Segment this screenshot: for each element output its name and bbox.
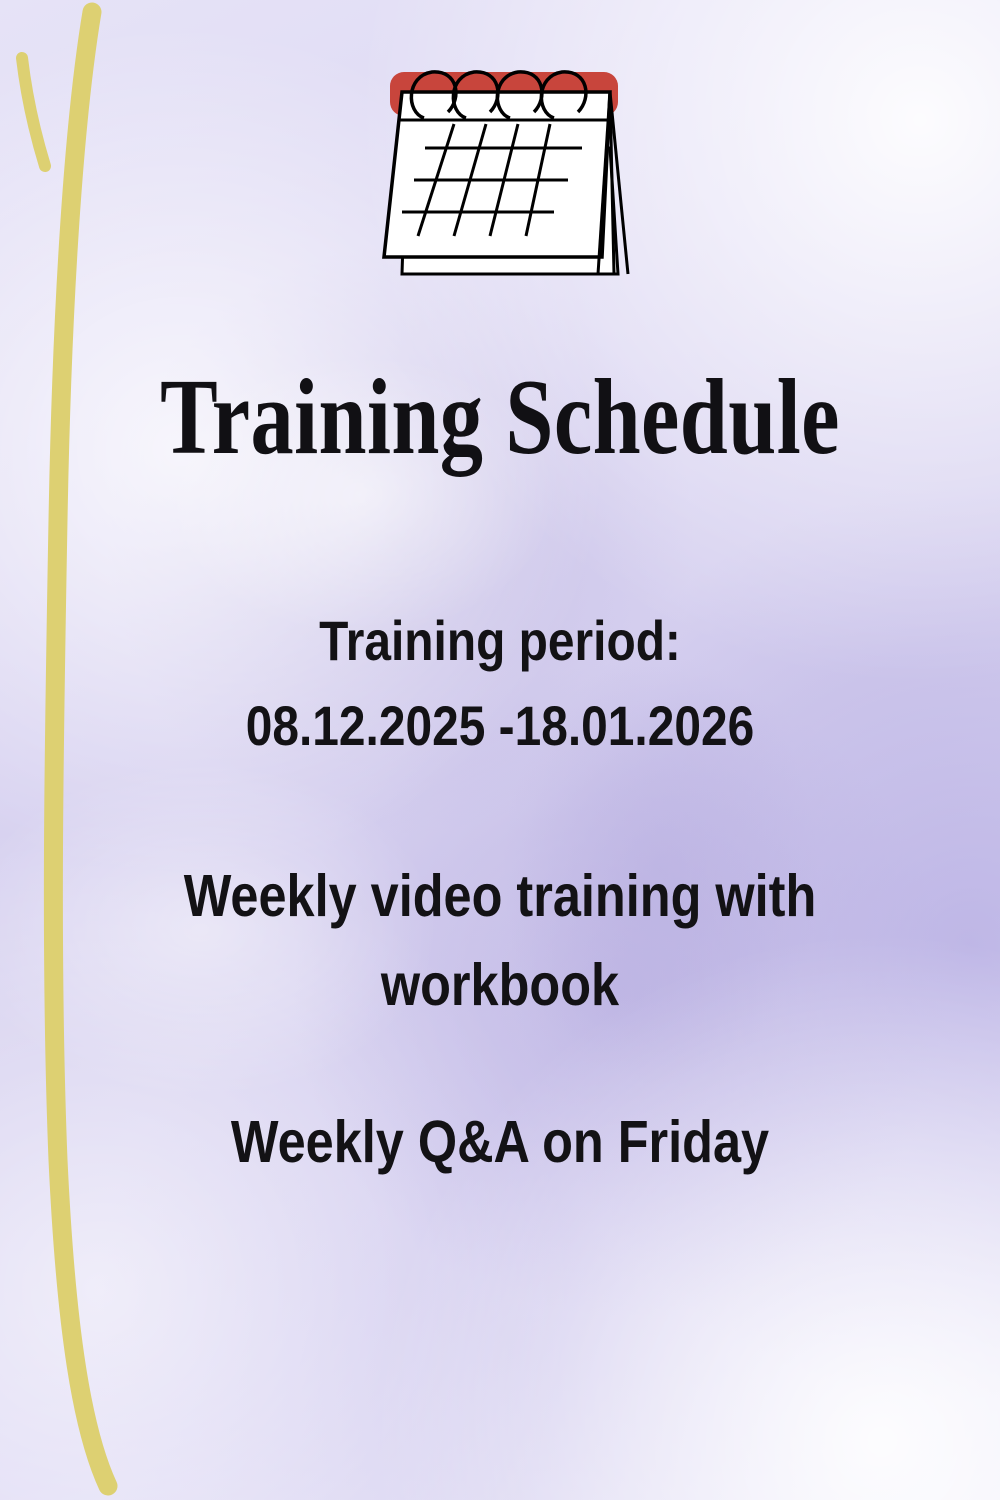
poster-canvas: Training Schedule Training period: 08.12…: [0, 0, 1000, 1500]
calendar-icon: [366, 62, 656, 282]
weekly-qa-line-1: Weekly Q&A on Friday: [73, 1098, 928, 1187]
page-title: Training Schedule: [100, 360, 900, 477]
weekly-qa-block: Weekly Q&A on Friday: [73, 1098, 928, 1187]
training-period-label: Training period:: [73, 598, 928, 683]
weekly-video-line-2: workbook: [73, 941, 928, 1030]
training-period-block: Training period: 08.12.2025 -18.01.2026: [73, 598, 928, 768]
weekly-video-training-block: Weekly video training with workbook: [73, 852, 928, 1029]
weekly-video-line-1: Weekly video training with: [73, 852, 928, 941]
training-period-dates: 08.12.2025 -18.01.2026: [73, 683, 928, 768]
